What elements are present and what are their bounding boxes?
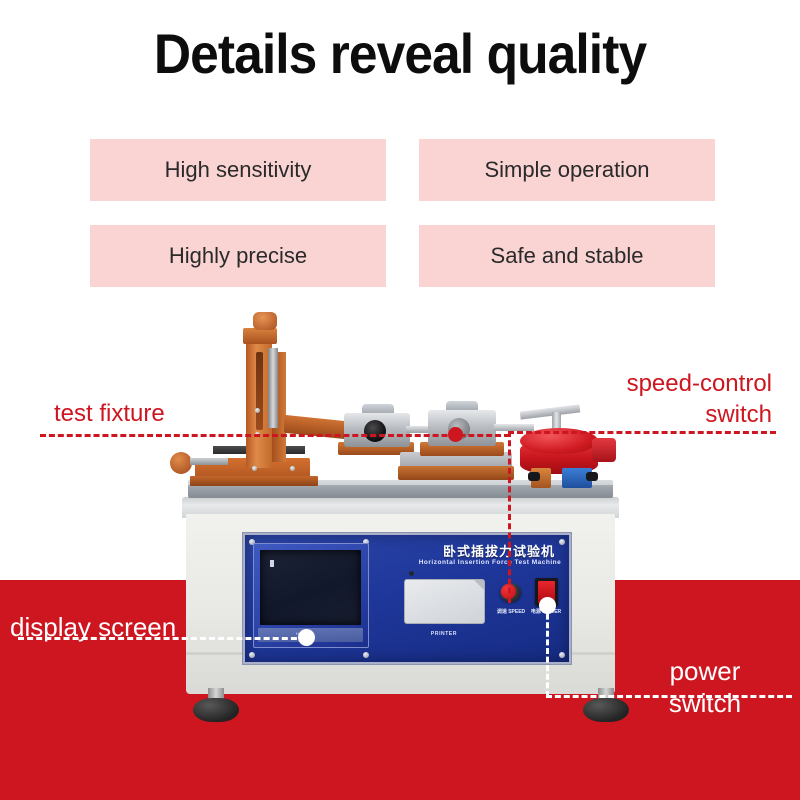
leader-line-speed-control-vertical — [508, 431, 511, 603]
printer-label: PRINTER — [400, 631, 488, 637]
panel-screw-icon — [363, 652, 369, 658]
printer-led-icon — [409, 571, 414, 576]
feature-label: Safe and stable — [491, 243, 644, 269]
poster-canvas: Details reveal quality High sensitivity … — [0, 0, 800, 800]
feature-label: Highly precise — [169, 243, 307, 269]
panel-screw-icon — [249, 652, 255, 658]
callout-speed-control-switch: speed-control switch — [560, 368, 772, 430]
page-title: Details reveal quality — [32, 24, 768, 84]
fixture-lead-screw — [190, 458, 228, 465]
speed-control-label: 调速 SPEED — [491, 608, 531, 616]
leader-endpoint-test-fixture — [448, 427, 463, 442]
dial-foot — [528, 472, 540, 481]
feature-pill-safe-and-stable: Safe and stable — [419, 225, 715, 287]
control-panel: 卧式插拔力试验机 Horizontal Insertion Force Test… — [243, 533, 571, 664]
fixture-slot — [256, 352, 263, 430]
leader-endpoint-display-screen — [298, 629, 315, 646]
callout-test-fixture: test fixture — [54, 400, 165, 428]
display-screen[interactable] — [260, 550, 361, 625]
callout-display-screen: display screen — [10, 612, 176, 643]
fixture-head — [243, 328, 277, 344]
feature-label: Simple operation — [484, 157, 649, 183]
callout-power-switch: power switch — [640, 655, 770, 719]
feature-pill-highly-precise: Highly precise — [90, 225, 386, 287]
printer-corner-icon — [474, 580, 484, 590]
leader-line-test-fixture — [40, 434, 510, 437]
connecting-rod-right — [494, 424, 534, 431]
leader-line-power-switch-vertical — [546, 605, 549, 697]
feature-list: High sensitivity Simple operation Highly… — [90, 139, 715, 291]
panel-title-chinese: 卧式插拔力试验机 — [433, 541, 565, 560]
clamp-left-bore — [364, 420, 386, 442]
fixture-hand-knob[interactable] — [170, 452, 192, 474]
fixture-screw-icon — [252, 466, 257, 471]
clamp-right-base — [398, 466, 514, 480]
feature-pill-simple-operation: Simple operation — [419, 139, 715, 201]
panel-title-english: Horizontal Insertion Force Test Machine — [415, 559, 565, 566]
machine-foot-left — [193, 688, 239, 722]
rotary-dial-side-knob[interactable] — [592, 438, 616, 462]
panel-screw-icon — [559, 652, 565, 658]
screen-indicator — [270, 560, 274, 567]
fixture-screw-icon — [255, 408, 260, 413]
dial-foot — [586, 472, 598, 481]
fixture-screw-icon — [290, 466, 295, 471]
feature-label: High sensitivity — [165, 157, 312, 183]
machine-foot-right — [583, 688, 629, 722]
fixture-top-knob[interactable] — [253, 312, 277, 330]
printer-slot[interactable] — [404, 579, 485, 624]
feature-pill-high-sensitivity: High sensitivity — [90, 139, 386, 201]
fixture-rod — [268, 348, 278, 428]
leader-line-speed-control-horizontal — [508, 431, 776, 434]
fixture-base-foot — [190, 476, 318, 486]
